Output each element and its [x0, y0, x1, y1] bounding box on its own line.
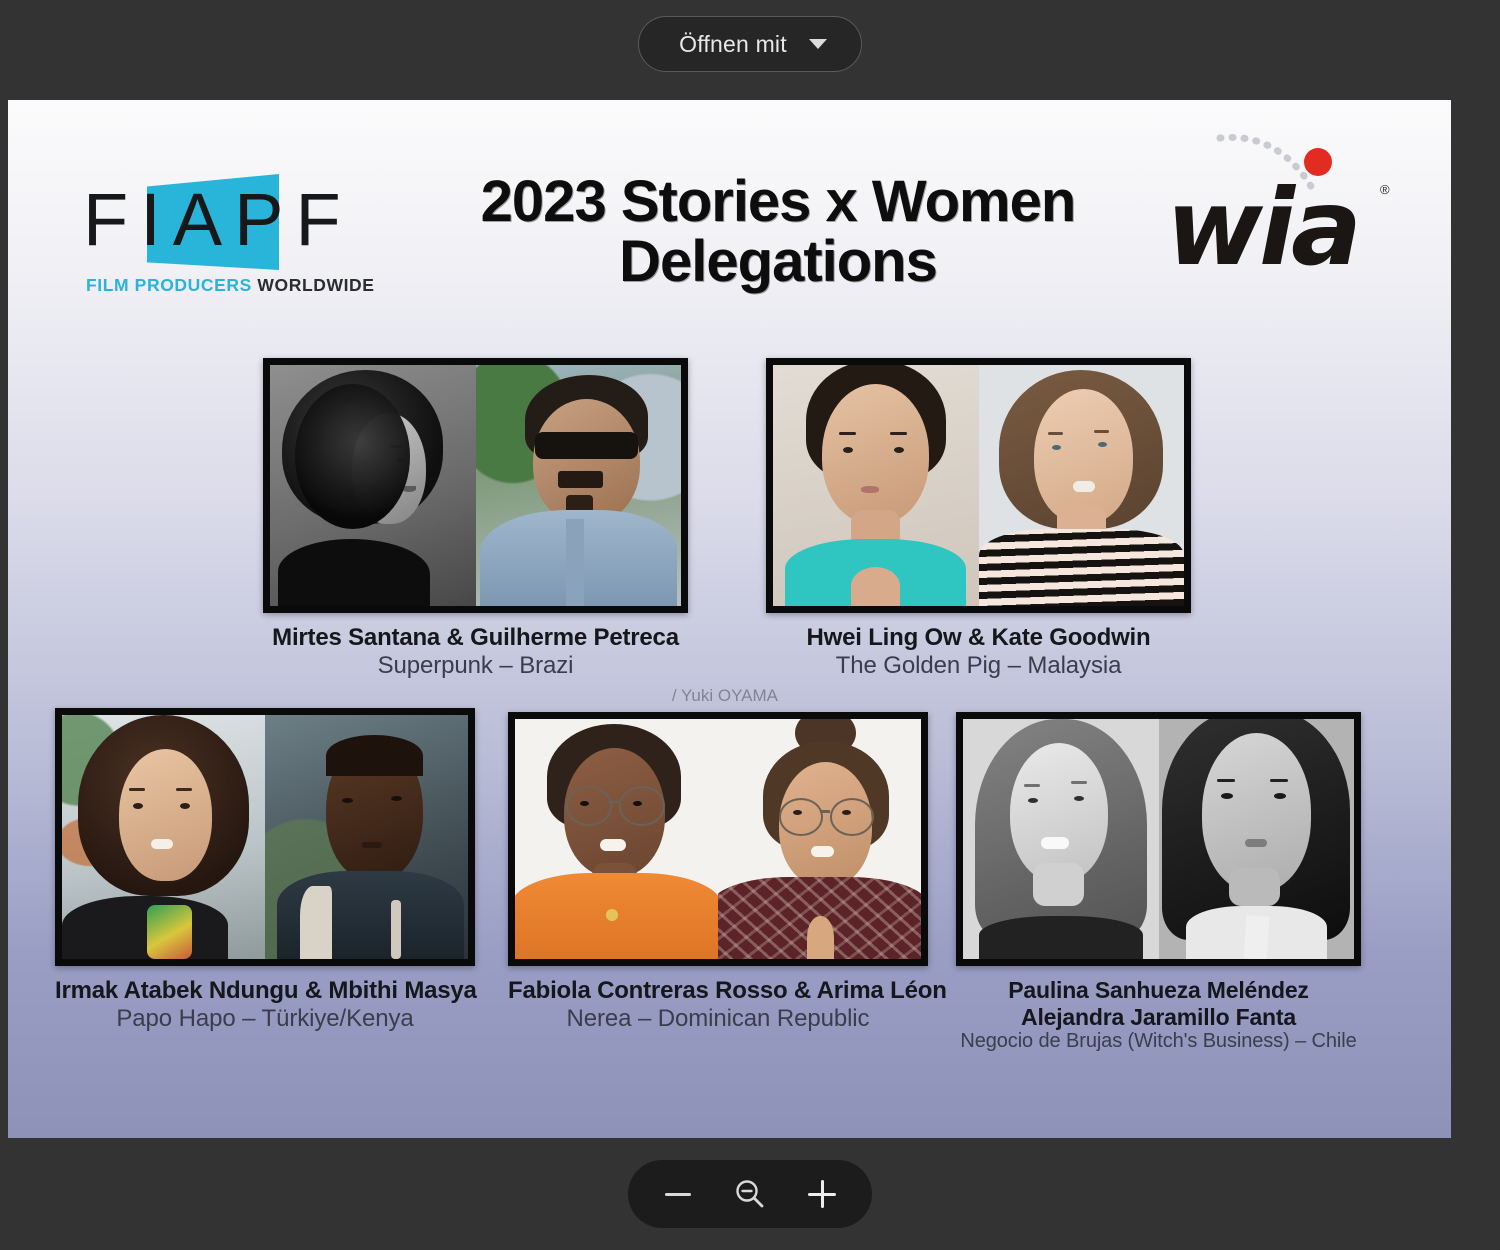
open-with-label: Öffnen mit: [679, 31, 787, 58]
plus-icon: [808, 1180, 836, 1208]
slide-title-line2: Delegations: [408, 232, 1148, 292]
portrait-woman-bun-maroon-shirt: [718, 719, 921, 959]
fiapf-tagline-accent: FILM PRODUCERS: [86, 275, 252, 295]
delegation-names: Fabiola Contreras Rosso & Arima Léon: [508, 977, 928, 1005]
delegation-photo: [55, 708, 475, 966]
delegation-card[interactable]: Hwei Ling Ow & Kate Goodwin The Golden P…: [766, 358, 1191, 680]
delegation-card[interactable]: Fabiola Contreras Rosso & Arima Léon Ner…: [508, 712, 928, 1033]
zoom-in-button[interactable]: [790, 1166, 854, 1222]
open-with-button[interactable]: Öffnen mit: [638, 16, 862, 72]
portrait-bw-woman-long-hair: [963, 719, 1159, 959]
wia-logo: wia ®: [1158, 130, 1408, 305]
viewer-top-toolbar: Öffnen mit: [0, 0, 1500, 88]
delegation-names: Hwei Ling Ow & Kate Goodwin: [766, 624, 1191, 652]
portrait-woman-orange-sweater-glasses: [515, 719, 718, 959]
delegation-film: Superpunk – Brazi: [263, 652, 688, 680]
portrait-woman-curly-scarf: [62, 715, 265, 959]
fiapf-tagline-dark: WORLDWIDE: [257, 275, 374, 295]
document-page[interactable]: FIAPF FILM PRODUCERS WORLDWIDE 2023 Stor…: [8, 100, 1451, 1138]
delegation-film: Negocio de Brujas (Witch's Business) – C…: [956, 1030, 1361, 1053]
wia-wordmark: wia: [1166, 176, 1358, 281]
zoom-out-button[interactable]: [646, 1166, 710, 1222]
portrait-man-sunglasses-blue-shirt: [476, 365, 682, 606]
delegation-names-line1: Paulina Sanhueza Meléndez: [956, 977, 1361, 1004]
viewer-bottom-toolbar: [0, 1138, 1500, 1250]
sunglasses-icon: [535, 432, 638, 459]
delegation-film: Nerea – Dominican Republic: [508, 1005, 928, 1033]
delegation-caption: Hwei Ling Ow & Kate Goodwin The Golden P…: [766, 624, 1191, 680]
portrait-bw-woman-curly-hair: [270, 365, 476, 606]
zoom-toolbar: [628, 1160, 872, 1228]
portrait-woman-striped-shirt: [979, 365, 1185, 606]
fiapf-logo: FIAPF FILM PRODUCERS WORLDWIDE: [83, 170, 383, 305]
delegation-photo: [263, 358, 688, 613]
fiapf-tagline: FILM PRODUCERS WORLDWIDE: [86, 275, 375, 296]
delegation-photo: [508, 712, 928, 966]
delegation-film: Papo Hapo – Türkiye/Kenya: [55, 1005, 475, 1033]
delegation-names-line2: Alejandra Jaramillo Fanta: [956, 1004, 1361, 1031]
delegation-card[interactable]: Paulina Sanhueza Meléndez Alejandra Jara…: [956, 712, 1361, 1054]
delegation-film: The Golden Pig – Malaysia: [766, 652, 1191, 680]
slide-header: FIAPF FILM PRODUCERS WORLDWIDE 2023 Stor…: [8, 100, 1451, 330]
magnifier-minus-icon: [733, 1177, 767, 1211]
delegation-names: Irmak Atabek Ndungu & Mbithi Masya: [55, 977, 475, 1005]
slide-title-line1: 2023 Stories x Women: [481, 169, 1076, 234]
delegation-card[interactable]: Mirtes Santana & Guilherme Petreca Super…: [263, 358, 688, 680]
delegation-card[interactable]: Irmak Atabek Ndungu & Mbithi Masya Papo …: [55, 708, 475, 1033]
delegation-caption: Paulina Sanhueza Meléndez Alejandra Jara…: [956, 977, 1361, 1054]
portrait-woman-teal-top: [773, 365, 979, 606]
portrait-bw-woman-dark-hair: [1159, 719, 1355, 959]
minus-icon: [665, 1193, 691, 1196]
zoom-reset-button[interactable]: [718, 1166, 782, 1222]
delegation-photo: [766, 358, 1191, 613]
wia-trademark: ®: [1380, 182, 1390, 197]
delegation-photo: [956, 712, 1361, 966]
delegation-caption: Irmak Atabek Ndungu & Mbithi Masya Papo …: [55, 977, 475, 1033]
photo-credit-watermark: / Yuki OYAMA: [408, 686, 778, 708]
slide-title: 2023 Stories x Women Delegations: [408, 172, 1148, 292]
delegation-caption: Fabiola Contreras Rosso & Arima Léon Ner…: [508, 977, 928, 1033]
fiapf-wordmark: FIAPF: [83, 170, 383, 270]
delegation-names: Mirtes Santana & Guilherme Petreca: [263, 624, 688, 652]
chevron-down-icon: [809, 39, 827, 49]
delegation-caption: Mirtes Santana & Guilherme Petreca Super…: [263, 624, 688, 680]
portrait-man-hoodie: [265, 715, 468, 959]
